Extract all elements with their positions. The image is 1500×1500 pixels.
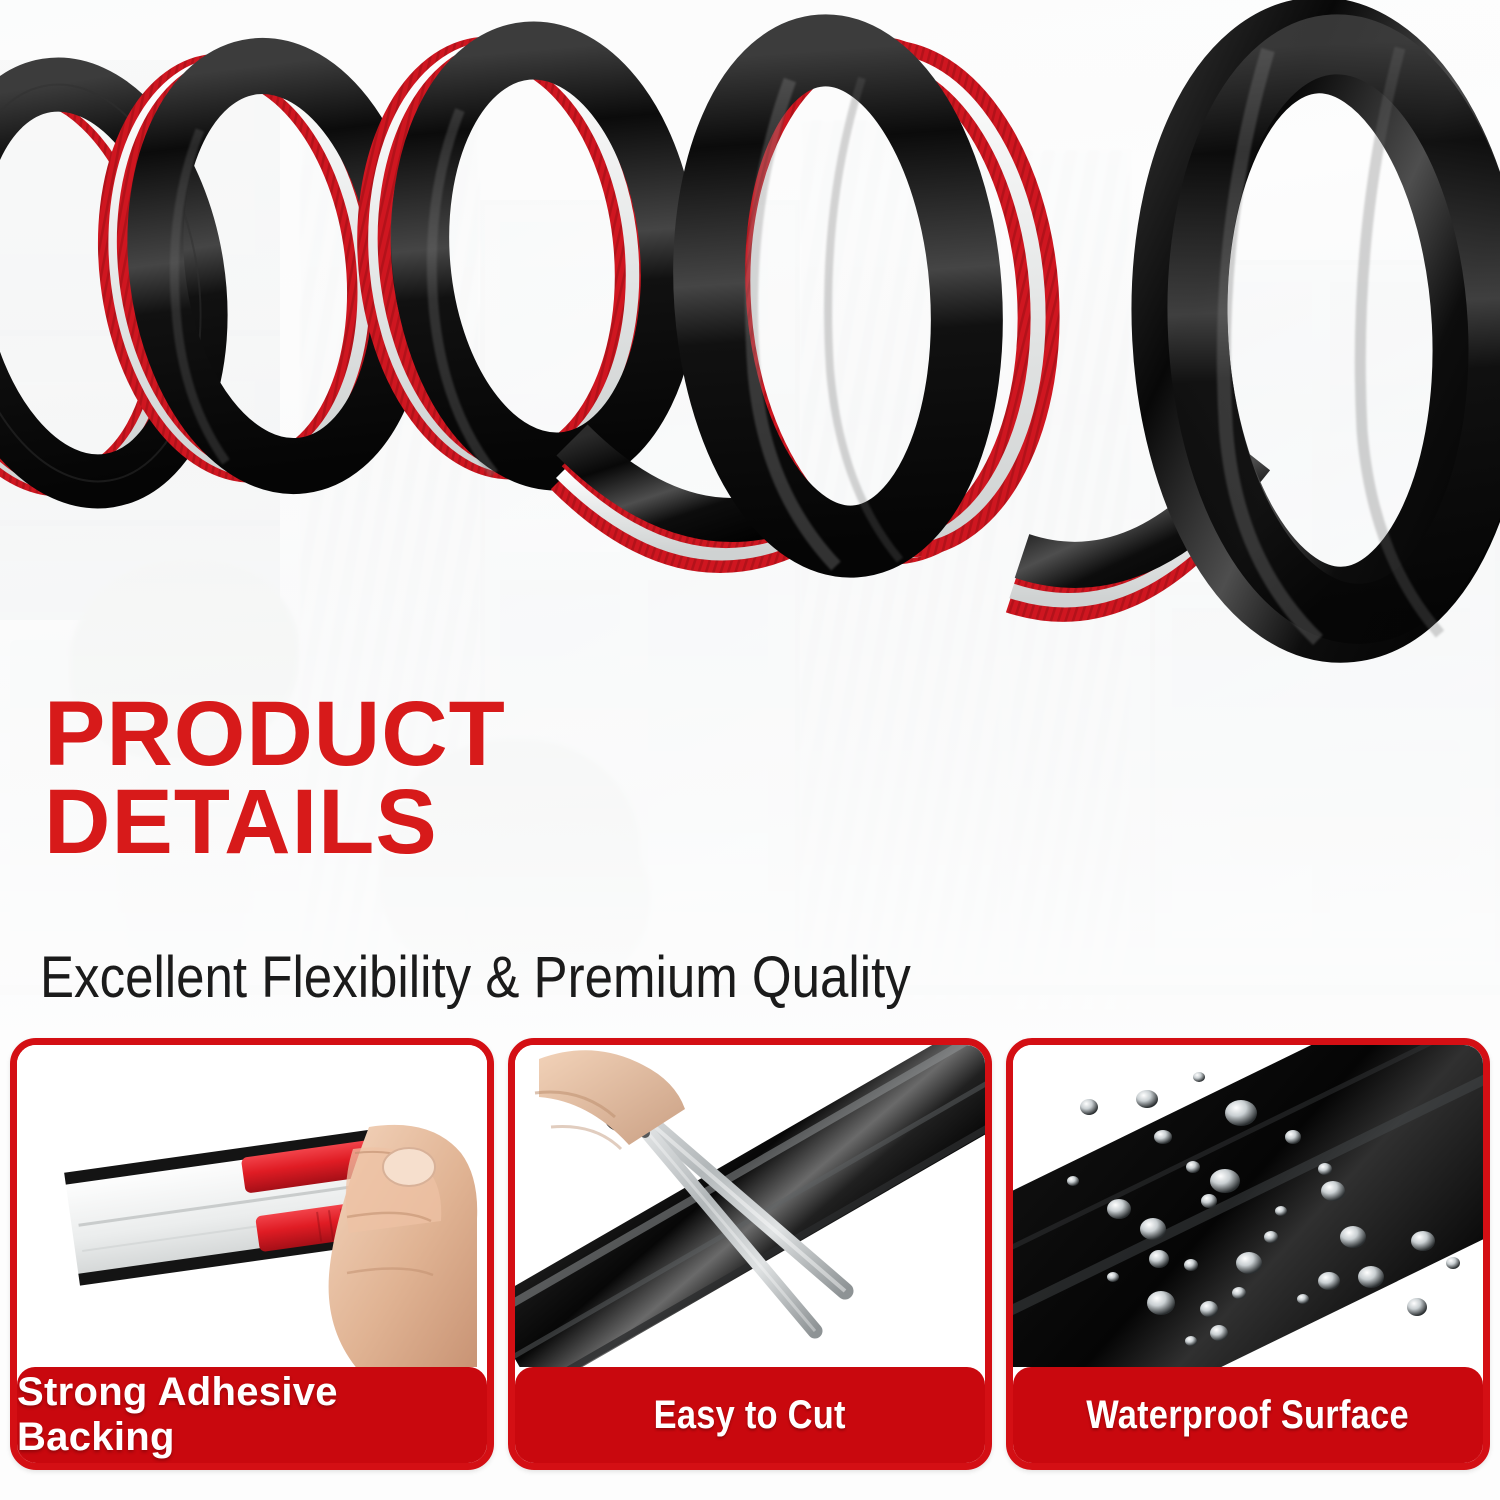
feature-cards-row: Strong Adhesive Backing: [0, 1038, 1500, 1470]
hand-holding-strip-icon: [17, 1045, 487, 1367]
card-image-adhesive: [17, 1045, 487, 1367]
card-caption-text: Waterproof Surface: [1087, 1393, 1410, 1438]
page-title: PRODUCT DETAILS: [44, 690, 744, 867]
card-caption-adhesive: Strong Adhesive Backing: [17, 1367, 487, 1463]
card-caption-cut: Easy to Cut: [515, 1367, 985, 1463]
card-caption-waterproof: Waterproof Surface: [1013, 1367, 1483, 1463]
page-subtitle: Excellent Flexibility & Premium Quality: [40, 944, 911, 1011]
feature-card-waterproof[interactable]: Waterproof Surface: [1006, 1038, 1490, 1470]
scissors-cutting-icon: [515, 1045, 985, 1367]
card-image-waterproof: [1013, 1045, 1483, 1367]
card-caption-text: Easy to Cut: [654, 1393, 846, 1438]
card-caption-text: Strong Adhesive Backing: [17, 1370, 487, 1460]
card-image-cut: [515, 1045, 985, 1367]
feature-card-adhesive[interactable]: Strong Adhesive Backing: [10, 1038, 494, 1470]
hero-section: PRODUCT DETAILS Excellent Flexibility & …: [0, 0, 1500, 1030]
water-droplets-icon: [1013, 1045, 1483, 1367]
product-detail-infographic: PRODUCT DETAILS Excellent Flexibility & …: [0, 0, 1500, 1500]
feature-card-cut[interactable]: Easy to Cut: [508, 1038, 992, 1470]
coiled-seal-strip-illustration: [0, 0, 1500, 800]
